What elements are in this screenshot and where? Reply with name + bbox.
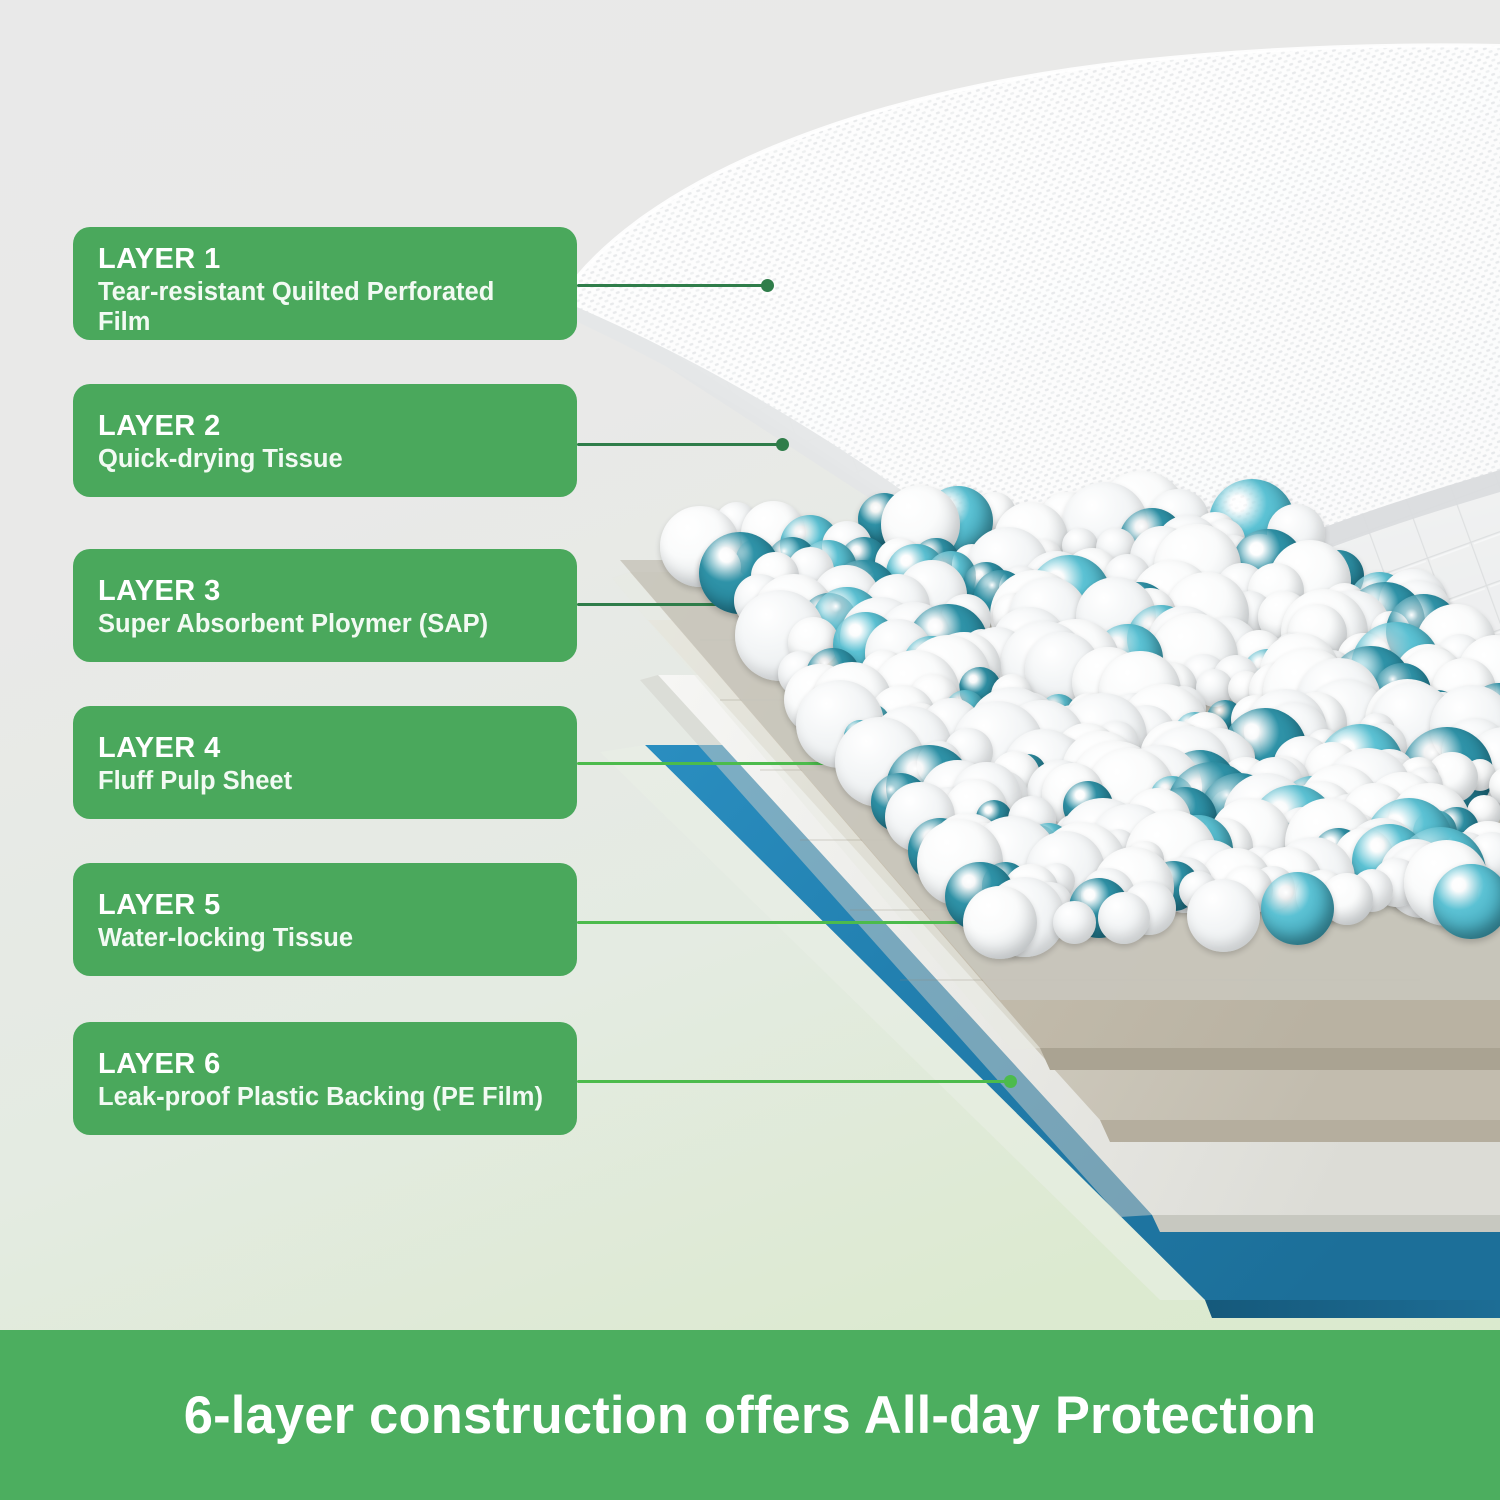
layer-label-title: LAYER 5	[98, 889, 553, 921]
banner-headline: 6-layer construction offers All-day Prot…	[8, 1330, 1493, 1500]
layer-label-title: LAYER 3	[98, 575, 553, 607]
layer-label-title: LAYER 4	[98, 732, 553, 764]
layer-label-2: LAYER 2Quick-drying Tissue	[73, 384, 577, 497]
sap-bead-white	[963, 886, 1036, 959]
sap-bead-white	[1053, 901, 1095, 943]
layer-label-subtitle: Fluff Pulp Sheet	[98, 767, 553, 797]
layer-label-5: LAYER 5Water-locking Tissue	[73, 863, 577, 976]
layer-label-title: LAYER 2	[98, 410, 553, 442]
layer-label-3: LAYER 3Super Absorbent Ploymer (SAP)	[73, 549, 577, 662]
layer-label-4: LAYER 4Fluff Pulp Sheet	[73, 706, 577, 819]
layer-label-6: LAYER 6Leak-proof Plastic Backing (PE Fi…	[73, 1022, 577, 1135]
sap-bead-white	[1187, 879, 1260, 952]
sap-bead-teal	[1433, 864, 1500, 939]
layer-label-title: LAYER 1	[98, 243, 553, 275]
sap-bead-teal	[1261, 872, 1334, 945]
layer-label-subtitle: Water-locking Tissue	[98, 924, 553, 954]
layer-label-title: LAYER 6	[98, 1048, 553, 1080]
sap-bead-white	[1098, 892, 1150, 944]
layer-label-subtitle: Tear-resistant Quilted Perforated Film	[98, 278, 553, 337]
layer-label-subtitle: Super Absorbent Ploymer (SAP)	[98, 610, 553, 640]
layer-label-subtitle: Quick-drying Tissue	[98, 445, 553, 475]
layer-label-1: LAYER 1Tear-resistant Quilted Perforated…	[73, 227, 577, 340]
infographic-canvas: LAYER 1Tear-resistant Quilted Perforated…	[0, 0, 1500, 1500]
layer-label-subtitle: Leak-proof Plastic Backing (PE Film)	[98, 1083, 553, 1113]
bottom-banner: 6-layer construction offers All-day Prot…	[0, 1330, 1500, 1500]
